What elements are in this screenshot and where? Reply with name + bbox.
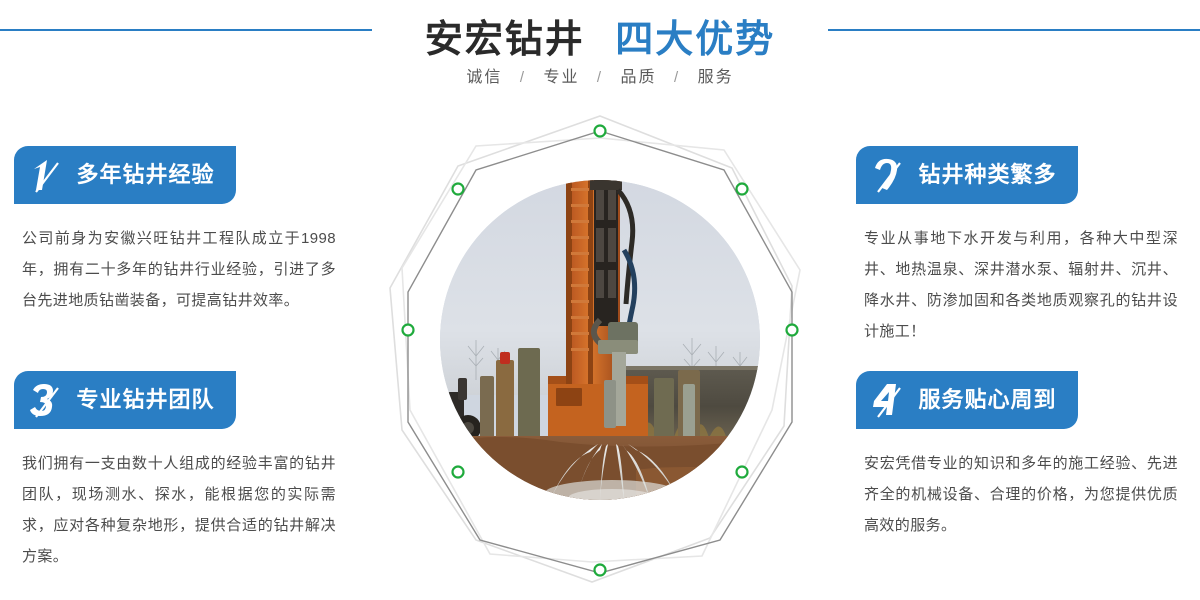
advantage-card-2: 钻井种类繁多 专业从事地下水开发与利用，各种大中型深井、地热温泉、深井潜水泵、辐… [856, 146, 1186, 347]
advantage-body-2: 专业从事地下水开发与利用，各种大中型深井、地热温泉、深井潜水泵、辐射井、沉井、降… [856, 223, 1178, 347]
title-company: 安宏钻井 [425, 19, 585, 61]
drilling-site-photo [440, 180, 760, 500]
subtitle-word-2: 专业 [543, 69, 579, 86]
subtitle-word-1: 诚信 [466, 69, 502, 86]
number-two-icon [870, 146, 904, 204]
advantage-title-2: 钻井种类繁多 [918, 146, 1056, 204]
advantage-body-3: 我们拥有一支由数十人组成的经验丰富的钻井团队，现场测水、探水，能根据您的实际需求… [14, 448, 336, 572]
subtitle-word-3: 品质 [621, 69, 657, 86]
title-accent: 四大优势 [615, 19, 775, 61]
advantage-body-1: 公司前身为安徽兴旺钻井工程队成立于1998年，拥有二十多年的钻井行业经验，引进了… [14, 223, 336, 316]
advantage-title-1: 多年钻井经验 [76, 146, 214, 204]
subtitle-separator-3: / [674, 69, 680, 86]
drilling-rig-illustration [440, 180, 760, 500]
vertex-marker-right [787, 325, 798, 336]
section-header: 安宏钻井 四大优势 诚信 / 专业 / 品质 / 服务 [0, 0, 1200, 112]
subtitle-separator-2: / [597, 69, 603, 86]
number-four-icon [870, 371, 904, 429]
advantage-title-3: 专业钻井团队 [76, 371, 214, 429]
advantage-badge-3: 专业钻井团队 [14, 371, 236, 429]
vertex-marker-top [595, 126, 606, 137]
number-three-icon [28, 371, 62, 429]
subtitle-separator-1: / [520, 69, 526, 86]
advantages-section: 安宏钻井 四大优势 诚信 / 专业 / 品质 / 服务 [0, 0, 1200, 600]
number-one-icon [28, 146, 62, 204]
advantage-card-3: 专业钻井团队 我们拥有一支由数十人组成的经验丰富的钻井团队，现场测水、探水，能根… [14, 371, 344, 572]
advantage-badge-4: 服务贴心周到 [856, 371, 1078, 429]
advantage-badge-2: 钻井种类繁多 [856, 146, 1078, 204]
vertex-marker-bottom [595, 565, 606, 576]
subtitle-keywords: 诚信 / 专业 / 品质 / 服务 [0, 63, 1200, 87]
vertex-marker-left [403, 325, 414, 336]
subtitle-word-4: 服务 [698, 69, 734, 86]
advantage-body-4: 安宏凭借专业的知识和多年的施工经验、先进齐全的机械设备、合理的价格，为您提供优质… [856, 448, 1178, 541]
page-title: 安宏钻井 四大优势 [0, 8, 1200, 63]
advantage-card-4: 服务贴心周到 安宏凭借专业的知识和多年的施工经验、先进齐全的机械设备、合理的价格… [856, 371, 1186, 541]
advantage-card-1: 多年钻井经验 公司前身为安徽兴旺钻井工程队成立于1998年，拥有二十多年的钻井行… [14, 146, 344, 316]
advantage-badge-1: 多年钻井经验 [14, 146, 236, 204]
advantage-title-4: 服务贴心周到 [918, 371, 1056, 429]
